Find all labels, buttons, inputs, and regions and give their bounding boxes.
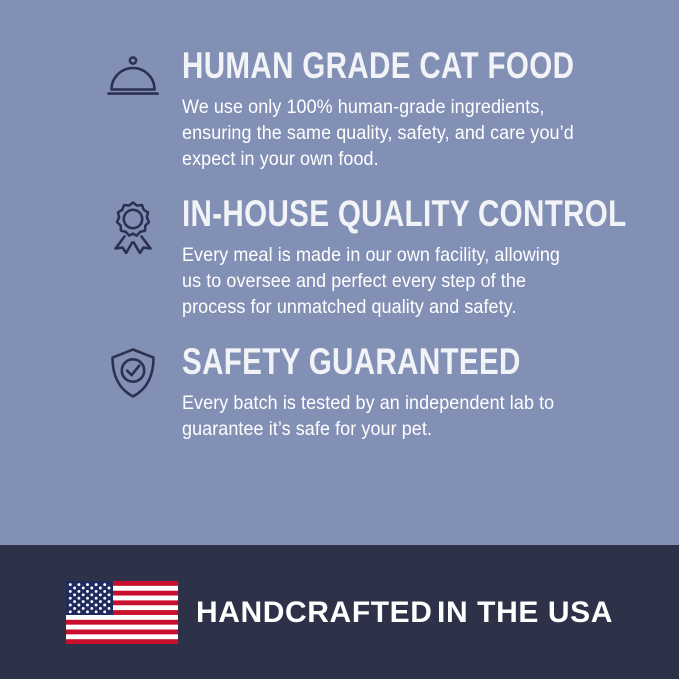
feature-list: HUMAN GRADE CAT FOOD We use only 100% hu… xyxy=(0,0,679,545)
feature-item-quality-control: IN-HOUSE QUALITY CONTROL Every meal is m… xyxy=(104,194,619,320)
cloche-icon xyxy=(104,48,162,106)
feature-description: We use only 100% human-grade ingredients… xyxy=(182,94,578,172)
feature-title: SAFETY GUARANTEED xyxy=(182,342,532,382)
shield-check-icon xyxy=(104,344,162,402)
feature-description: Every meal is made in our own facility, … xyxy=(182,242,578,320)
feature-text-block: SAFETY GUARANTEED Every batch is tested … xyxy=(182,342,619,442)
feature-item-human-grade: HUMAN GRADE CAT FOOD We use only 100% hu… xyxy=(104,46,619,172)
handcrafted-usa-banner: HANDCRAFTED IN THE USA xyxy=(0,545,679,679)
feature-text-block: IN-HOUSE QUALITY CONTROL Every meal is m… xyxy=(182,194,619,320)
handcrafted-line-1: HANDCRAFTED xyxy=(196,596,433,629)
feature-title: IN-HOUSE QUALITY CONTROL xyxy=(182,194,532,234)
feature-item-safety-guaranteed: SAFETY GUARANTEED Every batch is tested … xyxy=(104,342,619,442)
award-ribbon-icon xyxy=(104,196,162,254)
product-feature-poster: HUMAN GRADE CAT FOOD We use only 100% hu… xyxy=(0,0,679,679)
usa-flag-icon xyxy=(66,581,178,644)
handcrafted-usa-text: HANDCRAFTED IN THE USA xyxy=(196,597,613,628)
feature-title: HUMAN GRADE CAT FOOD xyxy=(182,46,532,86)
handcrafted-line-2: IN THE USA xyxy=(437,596,613,629)
feature-text-block: HUMAN GRADE CAT FOOD We use only 100% hu… xyxy=(182,46,619,172)
feature-description: Every batch is tested by an independent … xyxy=(182,390,578,442)
